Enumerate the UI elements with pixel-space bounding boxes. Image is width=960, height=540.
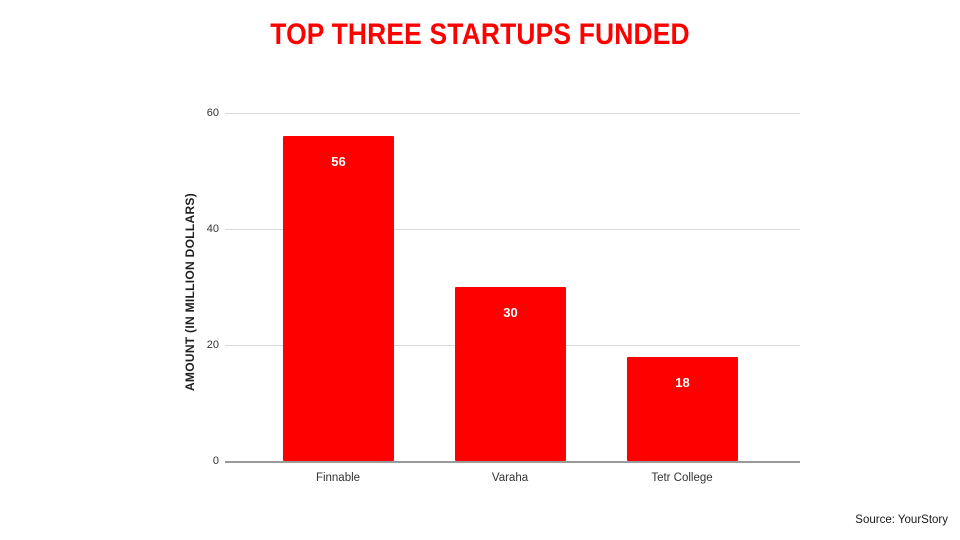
y-tick-label: 40 bbox=[185, 224, 219, 235]
x-tick-label-varaha: Varaha bbox=[430, 472, 590, 484]
x-tick-label-tetr-college: Tetr College bbox=[602, 472, 762, 484]
page-title: TOP THREE STARTUPS FUNDED bbox=[58, 18, 903, 52]
bar-finnable[interactable]: 56 bbox=[283, 136, 394, 461]
source-note: Source: YourStory bbox=[855, 514, 948, 526]
y-tick-label: 60 bbox=[185, 108, 219, 119]
x-tick-label-finnable: Finnable bbox=[258, 472, 418, 484]
bar-varaha[interactable]: 30 bbox=[455, 287, 566, 461]
bar-value-label: 18 bbox=[627, 375, 738, 390]
y-axis-tick-labels: 60 40 20 0 bbox=[181, 113, 219, 461]
bar-tetr-college[interactable]: 18 bbox=[627, 357, 738, 461]
bar-value-label: 30 bbox=[455, 305, 566, 320]
y-tick-label: 0 bbox=[185, 456, 219, 467]
plot-area: 56 30 18 bbox=[225, 113, 800, 461]
x-axis-line bbox=[225, 461, 800, 463]
bar-value-label: 56 bbox=[283, 154, 394, 169]
gridline-60 bbox=[225, 113, 800, 114]
y-tick-label: 20 bbox=[185, 340, 219, 351]
